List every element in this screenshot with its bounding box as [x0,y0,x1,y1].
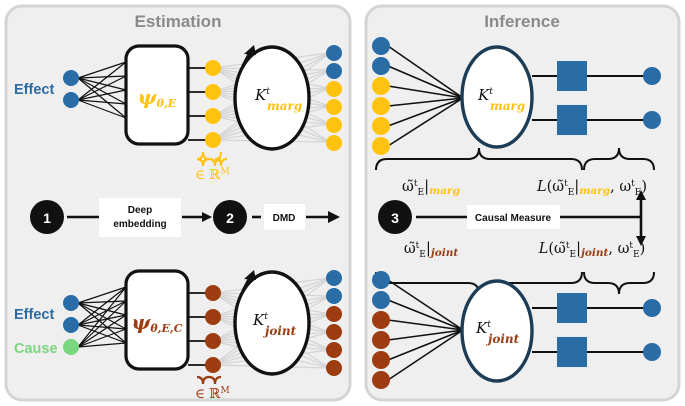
observed-node-joint-2 [643,343,661,361]
observed-node-marg-1 [643,67,661,85]
observable-square-marg-2 [557,105,587,135]
inference-panel-title: Inference [484,12,560,31]
inference-koopman-joint [462,281,532,381]
cause-label-joint: Cause [14,341,58,357]
dmd-label: DMD [273,213,296,224]
observable-square-joint-1 [557,293,587,323]
observable-square-joint-2 [557,337,587,367]
step-3-label: 3 [391,210,399,226]
deep-embedding-box [99,198,181,237]
effect-label-joint: Effect [14,307,54,323]
inference-koopman-sub-joint: joint [486,332,520,346]
koopman-sub-joint: joint [263,324,297,338]
deep-embedding-label-1: Deep [128,205,152,216]
inference-koopman-sub-marg: marg [490,99,525,113]
inference-koopman-marg [462,47,532,147]
koopman-sub-marg: marg [267,99,302,113]
observed-node-marg-2 [643,111,661,129]
deep-embedding-label-2: embedding [113,219,166,230]
observable-square-marg-1 [557,61,587,91]
estimation-panel-title: Estimation [135,12,222,31]
causal-measure-label: Causal Measure [475,213,552,224]
step-1-label: 1 [43,210,51,226]
observed-node-joint-1 [643,299,661,317]
effect-label-marg: Effect [14,82,54,98]
encoder-box-marg [126,46,188,144]
figure-root: Estimation Inference [0,0,685,406]
step-2-label: 2 [226,210,234,226]
input-nodes-joint [63,295,79,355]
